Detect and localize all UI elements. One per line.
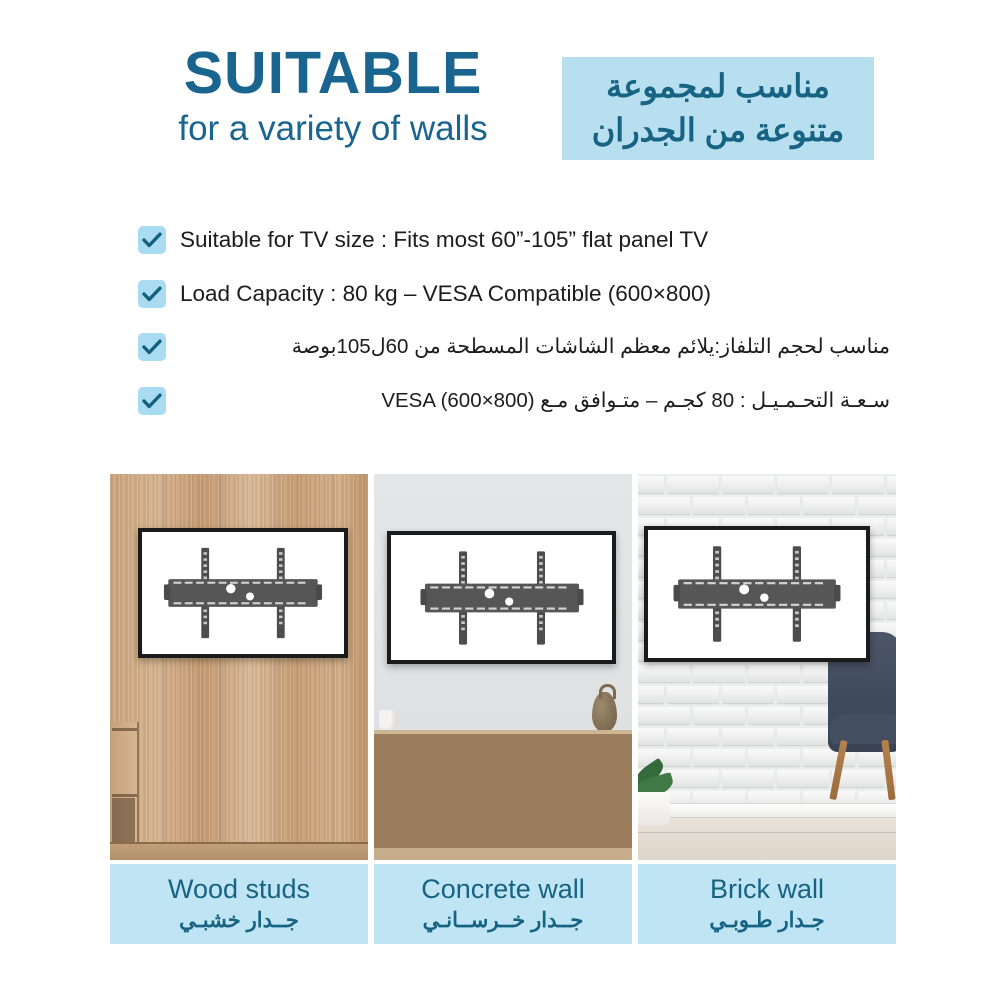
brick-baseboard <box>638 803 896 818</box>
mounted-tv-frame <box>644 526 870 662</box>
check-icon <box>138 280 166 308</box>
feature-list: Suitable for TV size : Fits most 60”-105… <box>0 214 1000 434</box>
page-title-arabic-box: مناسب لمجموعة متنوعة من الجدران <box>562 57 874 160</box>
floor <box>638 818 896 860</box>
caption-english: Wood studs <box>168 874 310 905</box>
sideboard-furniture <box>374 730 632 860</box>
feature-text: Suitable for TV size : Fits most 60”-105… <box>180 227 890 253</box>
scene-wood-wall <box>110 474 368 860</box>
caption-english: Brick wall <box>710 874 824 905</box>
caption-arabic: جـدار طـوبـي <box>709 907 824 934</box>
panel-caption: Brick wall جـدار طـوبـي <box>638 864 896 944</box>
plant-pot-decor <box>638 792 670 826</box>
mounted-tv-frame <box>138 528 348 658</box>
feature-text: مناسب لحجم التلفاز:يلائم معظم الشاشات ال… <box>180 335 890 359</box>
caption-arabic: جــدار خــرســانـي <box>423 907 584 934</box>
wood-baseboard <box>110 842 368 860</box>
sideboard-top-edge <box>374 730 632 734</box>
check-icon <box>138 226 166 254</box>
vase-decor <box>592 692 617 732</box>
panel-wood-studs: Wood studs جــدار خشبـي <box>110 474 368 944</box>
scene-concrete-wall <box>374 474 632 860</box>
feature-item: مناسب لحجم التلفاز:يلائم معظم الشاشات ال… <box>138 327 890 367</box>
feature-item: Load Capacity : 80 kg – VESA Compatible … <box>138 274 890 314</box>
panel-caption: Concrete wall جــدار خــرســانـي <box>374 864 632 944</box>
caption-arabic: جــدار خشبـي <box>179 907 299 934</box>
page-title-line1: SUITABLE <box>118 45 548 103</box>
scene-brick-wall <box>638 474 896 860</box>
mounted-tv-frame <box>387 531 616 664</box>
panel-caption: Wood studs جــدار خشبـي <box>110 864 368 944</box>
mug-decor <box>379 710 396 731</box>
feature-item: Suitable for TV size : Fits most 60”-105… <box>138 220 890 260</box>
feature-text: سـعـة التحـمـيـل : 80 كجـم – متـوافق مـع… <box>180 389 890 413</box>
caption-english: Concrete wall <box>421 874 585 905</box>
feature-item: سـعـة التحـمـيـل : 80 كجـم – متـوافق مـع… <box>138 381 890 421</box>
tv-wall-mount-bracket <box>406 544 596 652</box>
page-title-arabic-line1: مناسب لمجموعة <box>606 65 830 108</box>
header: SUITABLE for a variety of walls مناسب لم… <box>0 0 1000 180</box>
wall-type-panels: Wood studs جــدار خشبـي <box>0 474 1000 944</box>
tv-wall-mount-bracket <box>156 541 330 646</box>
shelf-recess <box>112 798 135 846</box>
page-title-arabic-line2: متنوعة من الجدران <box>592 109 844 152</box>
sideboard-floor <box>374 848 632 860</box>
check-icon <box>138 333 166 361</box>
panel-brick-wall: Brick wall جـدار طـوبـي <box>638 474 896 944</box>
tv-wall-mount-bracket <box>663 539 850 649</box>
check-icon <box>138 387 166 415</box>
wood-shelf-unit <box>110 722 139 852</box>
feature-text: Load Capacity : 80 kg – VESA Compatible … <box>180 281 890 307</box>
panel-concrete-wall: Concrete wall جــدار خــرســانـي <box>374 474 632 944</box>
page-title-line2: for a variety of walls <box>118 107 548 151</box>
page-title: SUITABLE for a variety of walls <box>118 45 548 151</box>
